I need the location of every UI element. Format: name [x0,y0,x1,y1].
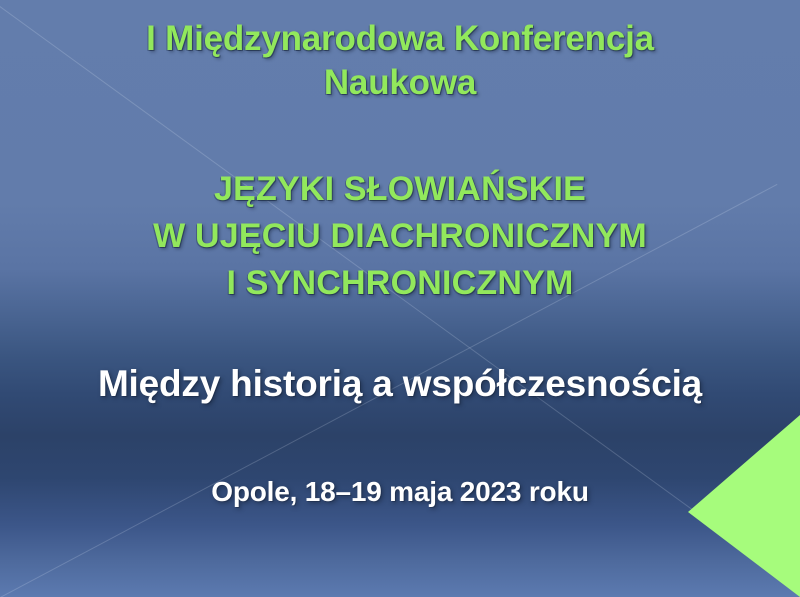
main-title-line-3: I SYNCHRONICZNYM [0,260,800,307]
slide-text-content: I Międzynarodowa Konferencja Naukowa JĘZ… [0,0,800,597]
main-title-line-1: JĘZYKI SŁOWIAŃSKIE [0,166,800,213]
event-location-and-date: Opole, 18–19 maja 2023 roku [0,473,800,511]
conference-heading-line-2: Naukowa [0,61,800,105]
slide-subtitle: Między historią a współczesnością [0,360,800,408]
main-title-line-2: W UJĘCIU DIACHRONICZNYM [0,213,800,260]
presentation-slide: I Międzynarodowa Konferencja Naukowa JĘZ… [0,0,800,597]
conference-heading-line-1: I Międzynarodowa Konferencja [0,17,800,61]
